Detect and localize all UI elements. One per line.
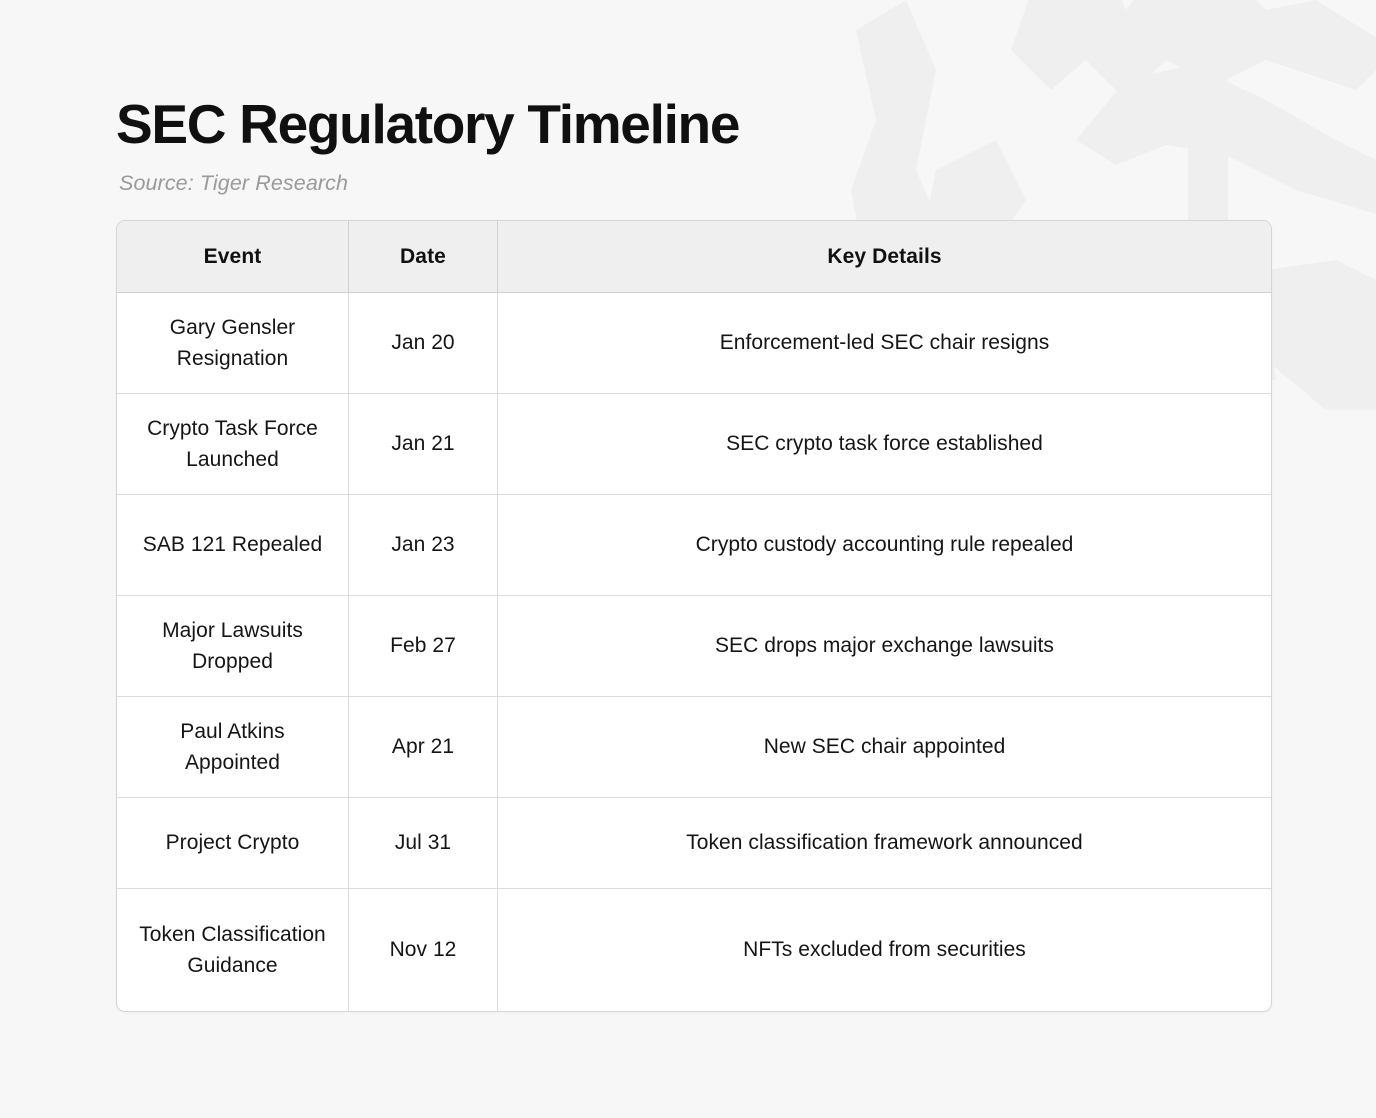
cell-event: SAB 121 Repealed [117, 495, 349, 596]
column-header-date[interactable]: Date [349, 221, 498, 293]
table-row: SAB 121 Repealed Jan 23 Crypto custody a… [117, 495, 1271, 596]
cell-date: Apr 21 [349, 697, 498, 798]
cell-details: New SEC chair appointed [498, 697, 1271, 798]
cell-event: Crypto Task Force Launched [117, 394, 349, 495]
table-row: Paul Atkins Appointed Apr 21 New SEC cha… [117, 697, 1271, 798]
cell-details: Token classification framework announced [498, 798, 1271, 889]
sec-regulatory-timeline-table: Event Date Key Details Gary Gensler Resi… [116, 220, 1272, 1012]
table-row: Token Classification Guidance Nov 12 NFT… [117, 889, 1271, 1011]
table-header-row: Event Date Key Details [117, 221, 1271, 293]
cell-details: SEC crypto task force established [498, 394, 1271, 495]
cell-event: Paul Atkins Appointed [117, 697, 349, 798]
cell-date: Jan 21 [349, 394, 498, 495]
cell-event: Gary Gensler Resignation [117, 293, 349, 394]
table-row: Major Lawsuits Dropped Feb 27 SEC drops … [117, 596, 1271, 697]
table-header: Event Date Key Details [117, 221, 1271, 293]
cell-event: Major Lawsuits Dropped [117, 596, 349, 697]
cell-details: Enforcement-led SEC chair resigns [498, 293, 1271, 394]
table-body: Gary Gensler Resignation Jan 20 Enforcem… [117, 293, 1271, 1011]
table-row: Project Crypto Jul 31 Token classificati… [117, 798, 1271, 889]
cell-date: Jan 20 [349, 293, 498, 394]
page-header: SEC Regulatory Timeline Source: Tiger Re… [0, 0, 1376, 196]
page-title: SEC Regulatory Timeline [116, 96, 1376, 154]
cell-date: Jul 31 [349, 798, 498, 889]
table-row: Crypto Task Force Launched Jan 21 SEC cr… [117, 394, 1271, 495]
source-attribution: Source: Tiger Research [119, 171, 1376, 196]
cell-details: SEC drops major exchange lawsuits [498, 596, 1271, 697]
cell-date: Feb 27 [349, 596, 498, 697]
cell-date: Jan 23 [349, 495, 498, 596]
page-root: SEC Regulatory Timeline Source: Tiger Re… [0, 0, 1376, 1012]
table-row: Gary Gensler Resignation Jan 20 Enforcem… [117, 293, 1271, 394]
cell-event: Token Classification Guidance [117, 889, 349, 1011]
cell-details: NFTs excluded from securities [498, 889, 1271, 1011]
column-header-event[interactable]: Event [117, 221, 349, 293]
timeline-table-container: Event Date Key Details Gary Gensler Resi… [116, 220, 1270, 1012]
cell-event: Project Crypto [117, 798, 349, 889]
column-header-details[interactable]: Key Details [498, 221, 1271, 293]
cell-date: Nov 12 [349, 889, 498, 1011]
cell-details: Crypto custody accounting rule repealed [498, 495, 1271, 596]
